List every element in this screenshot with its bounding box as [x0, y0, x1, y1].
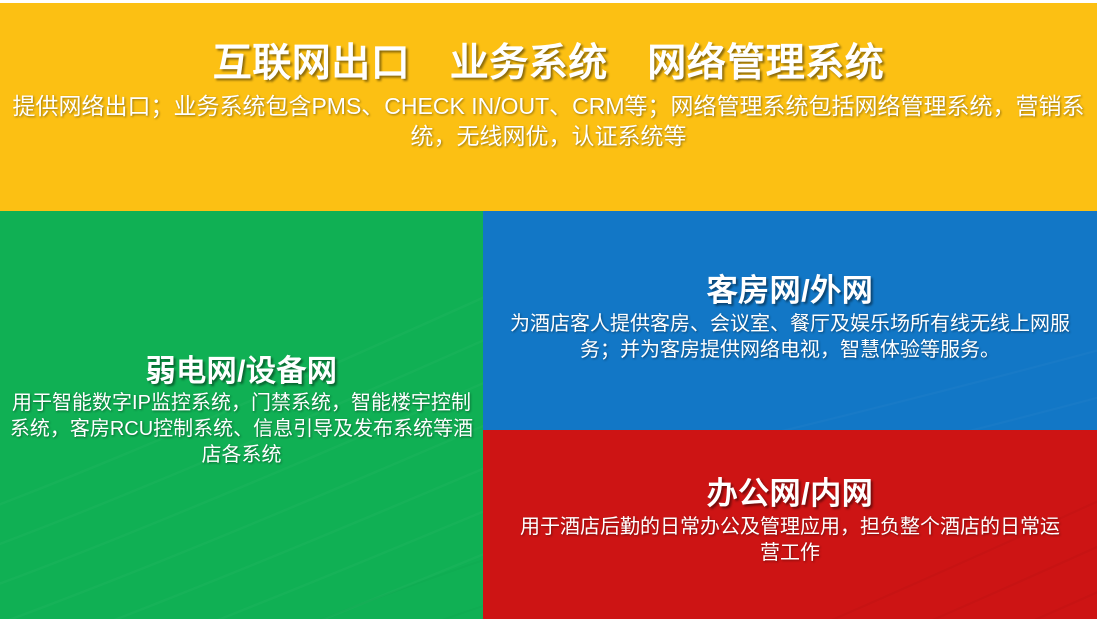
panel-title: 弱电网/设备网	[0, 356, 483, 388]
panel-title: 办公网/内网	[483, 477, 1097, 510]
weak-current-network-panel[interactable]: 弱电网/设备网 用于智能数字IP监控系统，门禁系统，智能楼宇控制系统，客房RCU…	[0, 211, 483, 619]
panel-description: 用于智能数字IP监控系统，门禁系统，智能楼宇控制系统，客房RCU控制系统、信息引…	[0, 388, 483, 468]
guest-room-network-panel[interactable]: 客房网/外网 为酒店客人提供客房、会议室、餐厅及娱乐场所有线无线上网服务；并为客…	[483, 211, 1097, 430]
panel-description: 用于酒店后勤的日常办公及管理应用，担负整个酒店的日常运营工作	[483, 510, 1097, 566]
network-architecture-slide: 互联网出口 业务系统 网络管理系统 提供网络出口；业务系统包含PMS、CHECK…	[0, 0, 1097, 622]
panel-title: 互联网出口 业务系统 网络管理系统	[0, 43, 1097, 85]
panel-title: 客房网/外网	[483, 274, 1097, 307]
internet-exit-panel[interactable]: 互联网出口 业务系统 网络管理系统 提供网络出口；业务系统包含PMS、CHECK…	[0, 3, 1097, 211]
panel-description: 提供网络出口；业务系统包含PMS、CHECK IN/OUT、CRM等；网络管理系…	[0, 85, 1097, 152]
panel-description: 为酒店客人提供客房、会议室、餐厅及娱乐场所有线无线上网服务；并为客房提供网络电视…	[483, 307, 1097, 363]
office-network-panel[interactable]: 办公网/内网 用于酒店后勤的日常办公及管理应用，担负整个酒店的日常运营工作	[483, 430, 1097, 619]
